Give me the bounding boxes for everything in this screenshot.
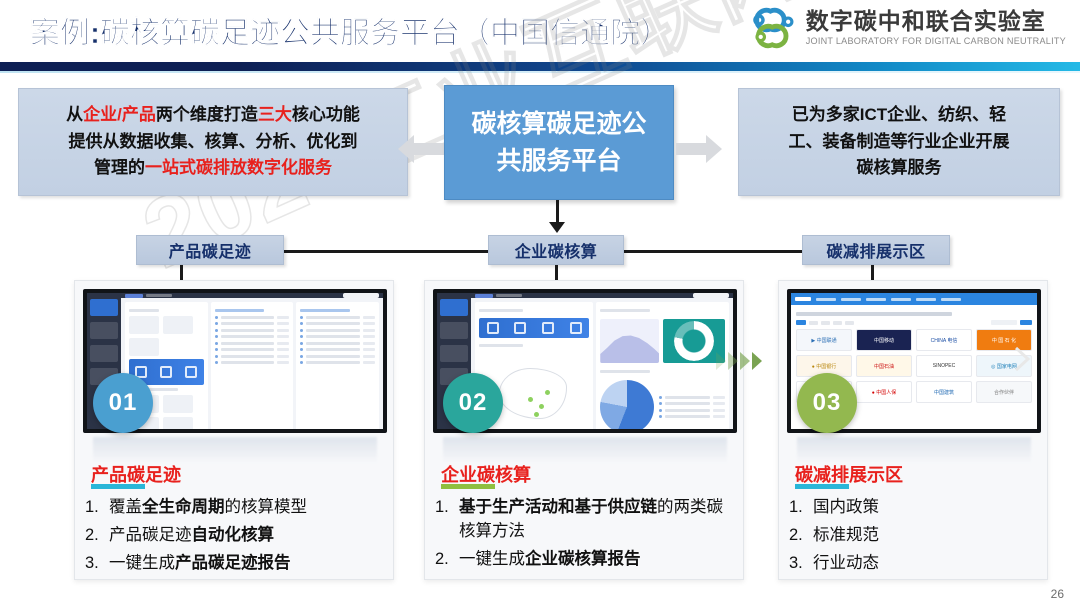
chevron-right-icon	[1010, 344, 1034, 374]
badge-carbon-reduction-showcase[interactable]: 碳减排展示区	[802, 235, 950, 265]
list-item-index: 1.	[789, 496, 806, 520]
callout-line-2: 工、装备制造等行业企业开展	[789, 129, 1010, 155]
slide-root: 案例:碳核算碳足迹公共服务平台（中国信通院） 数字碳中和联合实验室 JOINT …	[0, 0, 1080, 607]
callout-line-2: 提供从数据收集、核算、分析、优化到	[69, 129, 358, 155]
list-item: 2.产品碳足迹自动化核算	[85, 524, 385, 548]
list-item-text: 行业动态	[813, 552, 1039, 576]
page-title: 案例:碳核算碳足迹公共服务平台（中国信通院）	[30, 8, 670, 52]
list-item: 2.一键生成企业碳核算报告	[435, 548, 735, 572]
callout-right: 已为多家ICT企业、纺织、轻工、装备制造等行业企业开展碳核算服务	[738, 88, 1060, 196]
pie-chart	[600, 380, 654, 433]
list-item: 1.基于生产活动和基于供应链的两类碳核算方法	[435, 496, 735, 544]
list-item-text: 基于生产活动和基于供应链的两类碳核算方法	[459, 496, 735, 544]
callout-line-1: 从企业/产品两个维度打造三大核心功能	[66, 102, 360, 128]
screenshot-reflection	[443, 437, 727, 463]
screenshot-reflection	[93, 437, 377, 463]
badge-product-carbon-footprint[interactable]: 产品碳足迹	[136, 235, 284, 265]
list-item-index: 2.	[85, 524, 102, 548]
list-item-index: 2.	[789, 524, 806, 548]
card-feature-list-03: 1.国内政策2.标准规范3.行业动态	[789, 496, 1039, 580]
list-item-index: 1.	[435, 496, 452, 520]
logo-chinese-name: 数字碳中和联合实验室	[806, 10, 1066, 33]
center-platform-box: 碳核算碳足迹公共服务平台	[444, 85, 674, 200]
brand-logo: 数字碳中和联合实验室 JOINT LABORATORY FOR DIGITAL …	[751, 7, 1066, 49]
list-item: 1.覆盖全生命周期的核算模型	[85, 496, 385, 520]
screenshot-reflection	[797, 437, 1031, 463]
arrow-right-icon	[676, 131, 722, 167]
list-item-index: 3.	[85, 552, 102, 576]
joint-lab-logo-icon	[751, 7, 797, 49]
center-box-line-2: 共服务平台	[496, 143, 621, 179]
list-item-text: 覆盖全生命周期的核算模型	[109, 496, 385, 520]
center-connector-arrow	[549, 222, 565, 233]
list-item-index: 1.	[85, 496, 102, 520]
list-item-index: 3.	[789, 552, 806, 576]
card-underline-02	[441, 484, 495, 489]
card-product-carbon-footprint[interactable]: 01 产品碳足迹 1.覆盖全生命周期的核算模型2.产品碳足迹自动化核算3.一键生…	[74, 280, 394, 580]
page-number: 26	[1051, 587, 1064, 601]
card-feature-list-01: 1.覆盖全生命周期的核算模型2.产品碳足迹自动化核算3.一键生成产品碳足迹报告	[85, 496, 385, 580]
badge-enterprise-carbon-accounting[interactable]: 企业碳核算	[488, 235, 624, 265]
step-number-badge-02: 02	[443, 373, 503, 433]
card-feature-list-02: 1.基于生产活动和基于供应链的两类碳核算方法2.一键生成企业碳核算报告	[435, 496, 735, 576]
callout-line-3: 管理的一站式碳排放数字化服务	[94, 155, 332, 181]
logo-english-name: JOINT LABORATORY FOR DIGITAL CARBON NEUT…	[806, 37, 1066, 46]
list-item: 3.行业动态	[789, 552, 1039, 576]
list-item-text: 标准规范	[813, 524, 1039, 548]
header-divider	[0, 62, 1080, 71]
card-enterprise-carbon-accounting[interactable]: 02 企业碳核算 1.基于生产活动和基于供应链的两类碳核算方法2.一键生成企业碳…	[424, 280, 744, 580]
list-item-text: 一键生成企业碳核算报告	[459, 548, 735, 572]
list-item-index: 2.	[435, 548, 452, 572]
slide-header: 案例:碳核算碳足迹公共服务平台（中国信通院） 数字碳中和联合实验室 JOINT …	[0, 0, 1080, 62]
card-underline-01	[91, 484, 145, 489]
card-underline-03	[795, 484, 849, 489]
step-number-badge-03: 03	[797, 373, 857, 433]
area-chart	[600, 319, 659, 363]
callout-line-3: 碳核算服务	[857, 155, 942, 181]
card-carbon-reduction-showcase[interactable]: ▶ 中国联通 中国移动 CHINA 电信 中 国 石 化 ● 中国银行 中国石油…	[778, 280, 1048, 580]
center-box-line-1: 碳核算碳足迹公	[471, 106, 646, 142]
callout-line-1: 已为多家ICT企业、纺织、轻	[792, 102, 1006, 128]
list-item-text: 国内政策	[813, 496, 1039, 520]
screenshot-web-navbar	[791, 293, 1037, 305]
chevron-group-icon	[716, 352, 762, 370]
callout-left: 从企业/产品两个维度打造三大核心功能提供从数据收集、核算、分析、优化到管理的一站…	[18, 88, 408, 196]
list-item: 2.标准规范	[789, 524, 1039, 548]
list-item: 1.国内政策	[789, 496, 1039, 520]
list-item-text: 一键生成产品碳足迹报告	[109, 552, 385, 576]
list-item-text: 产品碳足迹自动化核算	[109, 524, 385, 548]
step-number-badge-01: 01	[93, 373, 153, 433]
arrow-left-icon	[398, 131, 444, 167]
header-divider-accent	[0, 71, 1080, 73]
list-item: 3.一键生成产品碳足迹报告	[85, 552, 385, 576]
